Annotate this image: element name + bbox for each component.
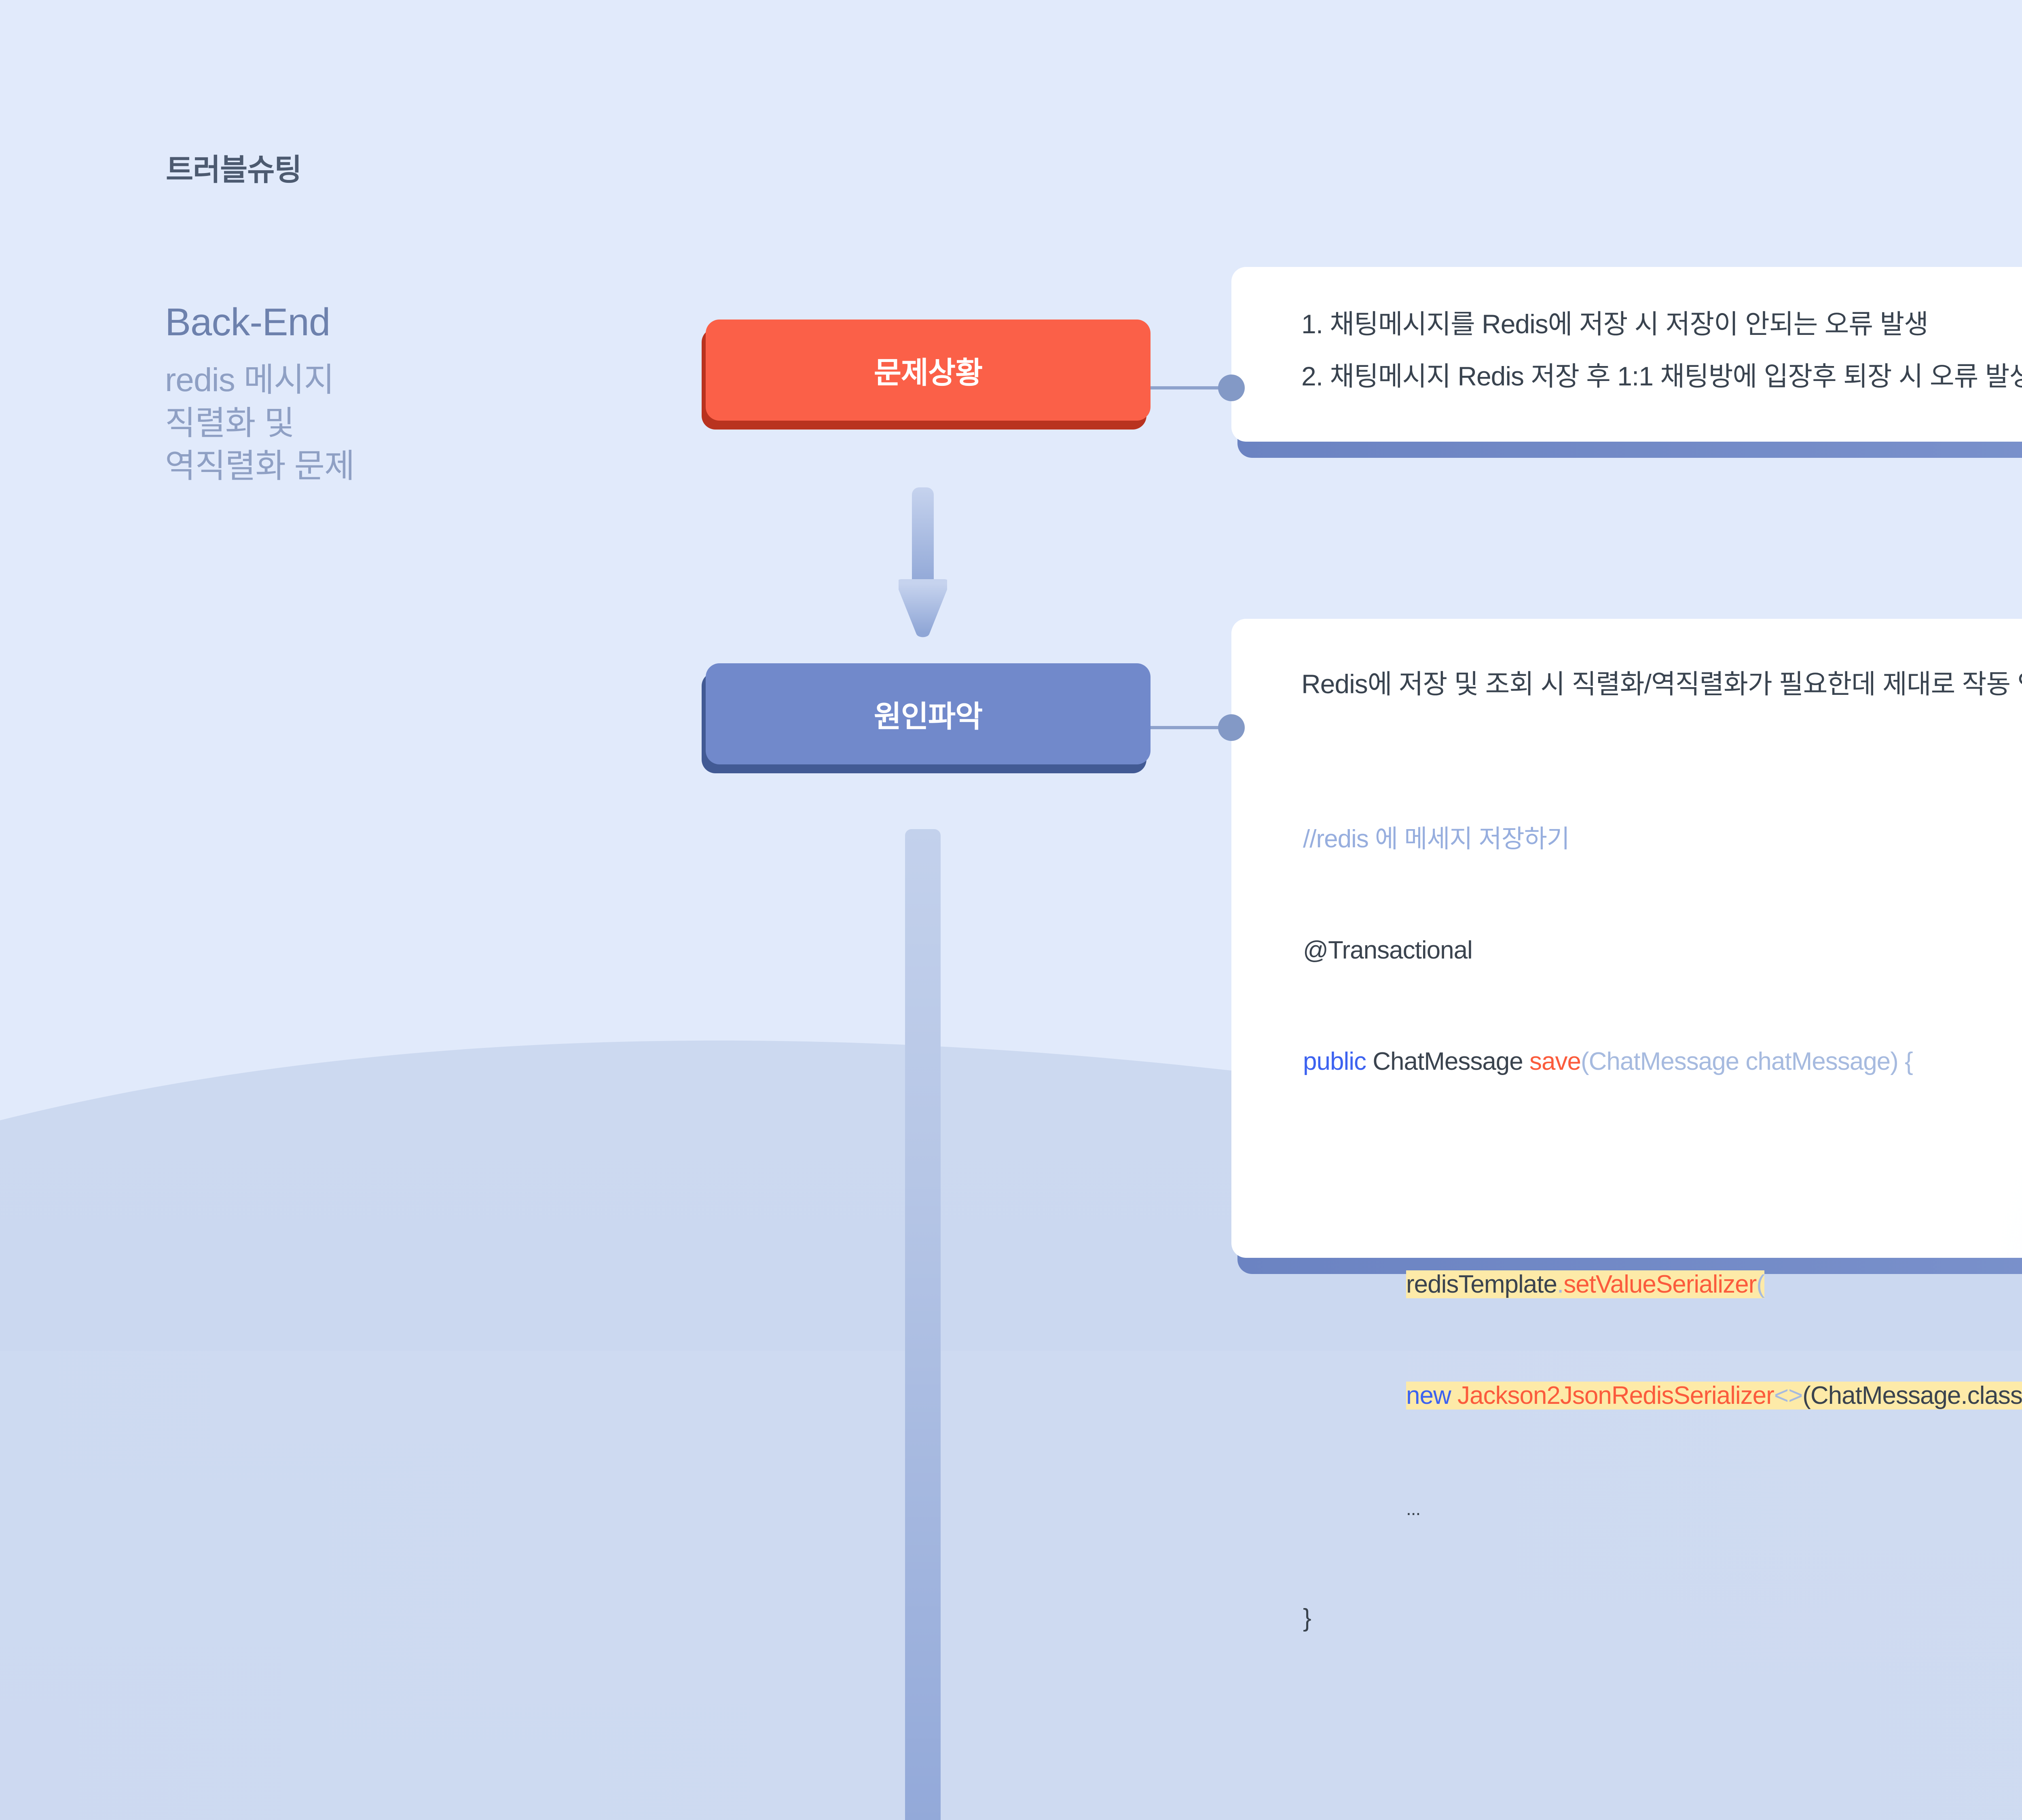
cause-badge[interactable]: 원인파악 bbox=[706, 663, 1151, 764]
code-token-args: (ChatMessage.class)); bbox=[1802, 1382, 2022, 1409]
code-token-method: setValueSerializer bbox=[1563, 1270, 1756, 1298]
code-token-closing-brace: } bbox=[1303, 1604, 1311, 1632]
page-title: 트러블슈팅 bbox=[166, 146, 301, 189]
code-line-highlighted-2: new Jackson2JsonRedisSerializer<>(ChatMe… bbox=[1303, 1377, 2022, 1414]
sidebar-subtitle-line: redis 메시지 bbox=[165, 359, 610, 402]
connector-dot bbox=[1218, 714, 1245, 741]
connector-dot bbox=[1218, 375, 1245, 401]
code-line-blank bbox=[1303, 1154, 2022, 1191]
code-token-ellipsis: ... bbox=[1406, 1498, 1420, 1519]
code-line-highlighted-1: redisTemplate.setValueSerializer( bbox=[1303, 1266, 2022, 1303]
code-line-closing: } bbox=[1303, 1600, 2022, 1637]
code-token-keyword: public bbox=[1303, 1048, 1366, 1075]
code-token-dot: . bbox=[1557, 1270, 1563, 1298]
code-token-annotation: @Transactional bbox=[1303, 936, 1472, 964]
code-token-diamond: <> bbox=[1774, 1382, 1802, 1409]
code-token-method: save bbox=[1529, 1048, 1581, 1075]
sidebar-subtitle-line: 역직렬화 문제 bbox=[165, 445, 610, 488]
code-line-ellipsis: ... bbox=[1303, 1488, 2022, 1526]
code-token-params: (ChatMessage chatMessage) bbox=[1581, 1048, 1898, 1075]
code-line-comment: //redis 에 메세지 저장하기 bbox=[1303, 821, 2022, 858]
problem-card-content: 1. 채팅메시지를 Redis에 저장 시 저장이 안되는 오류 발생 2. 채… bbox=[1301, 311, 2022, 390]
code-line-annotation: @Transactional bbox=[1303, 932, 2022, 969]
cause-card-heading: Redis에 저장 및 조회 시 직렬화/역직렬화가 필요한데 제대로 작동 안… bbox=[1301, 662, 2022, 701]
flow-shaft bbox=[905, 829, 941, 1820]
problem-badge-label: 문제상황 bbox=[874, 349, 982, 392]
sidebar-subtitle-line: 직렬화 및 bbox=[165, 402, 610, 445]
sidebar-subtitle: redis 메시지 직렬화 및 역직렬화 문제 bbox=[165, 359, 610, 488]
arrow-down-icon bbox=[899, 487, 947, 641]
sidebar-heading: Back-End bbox=[165, 299, 610, 345]
sidebar: Back-End redis 메시지 직렬화 및 역직렬화 문제 bbox=[165, 299, 610, 488]
problem-line: 2. 채팅메시지 Redis 저장 후 1:1 채팅방에 입장후 퇴장 시 오류… bbox=[1301, 363, 2022, 390]
code-token-new: new bbox=[1406, 1382, 1451, 1409]
code-highlight-span: redisTemplate.setValueSerializer( bbox=[1406, 1270, 1764, 1298]
code-token-paren: ( bbox=[1756, 1270, 1764, 1298]
code-token-object: redisTemplate bbox=[1406, 1270, 1557, 1298]
code-line-signature: public ChatMessage save(ChatMessage chat… bbox=[1303, 1043, 2022, 1080]
problem-line: 1. 채팅메시지를 Redis에 저장 시 저장이 안되는 오류 발생 bbox=[1301, 311, 2022, 338]
code-highlight-span: new Jackson2JsonRedisSerializer<>(ChatMe… bbox=[1406, 1382, 2022, 1409]
code-token-return-type: ChatMessage bbox=[1373, 1048, 1523, 1075]
code-block: //redis 에 메세지 저장하기 @Transactional public… bbox=[1303, 746, 2022, 1674]
code-token-type: Jackson2JsonRedisSerializer bbox=[1457, 1382, 1774, 1409]
code-token-brace: { bbox=[1905, 1048, 1913, 1075]
cause-badge-label: 원인파악 bbox=[874, 692, 982, 736]
code-token-comment: //redis 에 메세지 저장하기 bbox=[1303, 825, 1569, 853]
problem-badge[interactable]: 문제상황 bbox=[706, 320, 1151, 421]
